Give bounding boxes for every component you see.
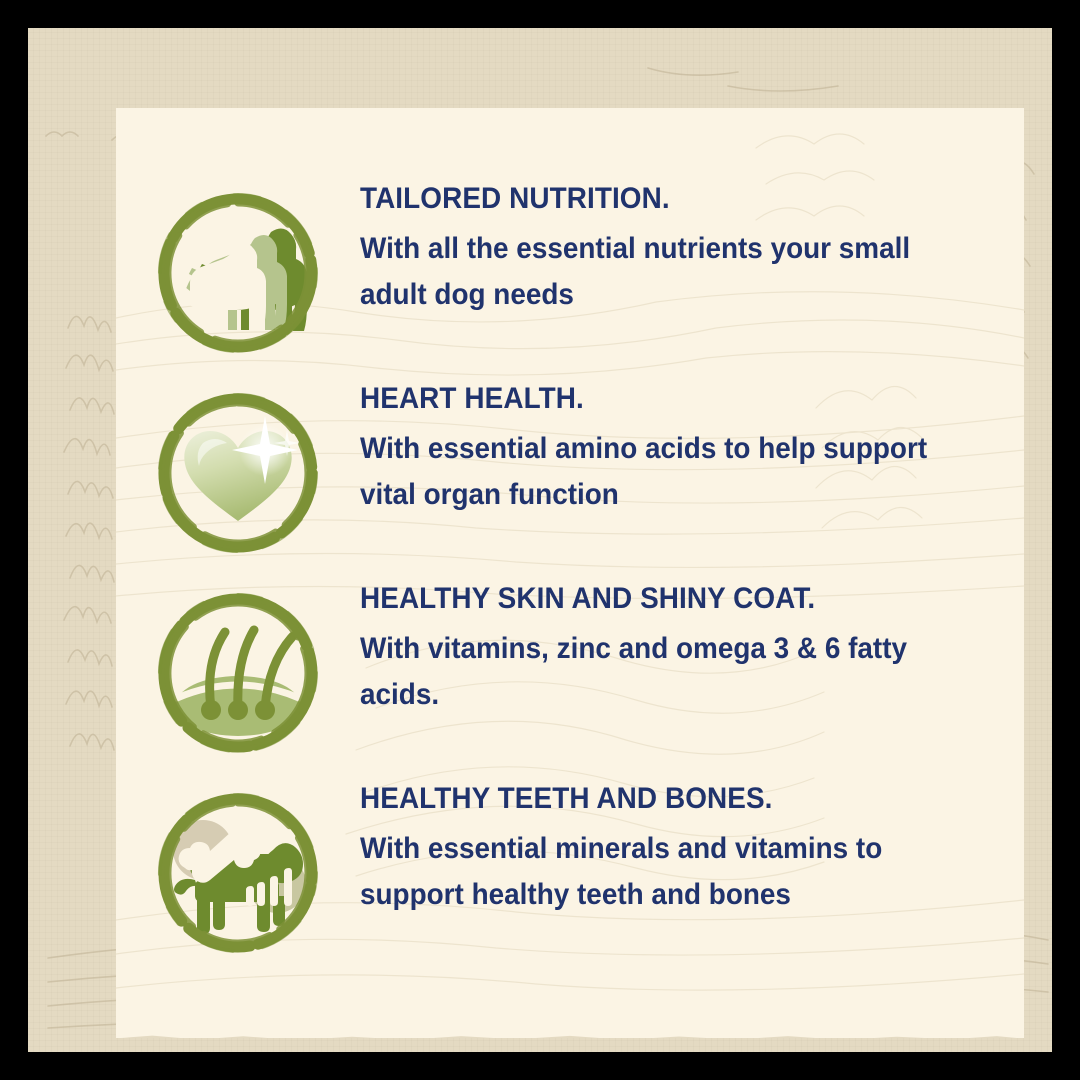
- poster-stage: TAILORED NUTRITION. With all the essenti…: [0, 0, 1080, 1080]
- dog-bone-teeth-icon: [145, 780, 331, 966]
- benefit-text-cell: HEALTHY SKIN AND SHINY COAT. With vitami…: [360, 574, 1024, 717]
- benefit-icon-cell: [116, 374, 360, 566]
- benefit-row: TAILORED NUTRITION. With all the essenti…: [116, 174, 1024, 370]
- benefit-row: HEALTHY SKIN AND SHINY COAT. With vitami…: [116, 574, 1024, 770]
- benefit-text-cell: HEART HEALTH. With essential amino acids…: [360, 374, 1024, 517]
- benefit-description: With essential minerals and vitamins to …: [360, 826, 974, 917]
- benefit-icon-cell: [116, 774, 360, 966]
- benefit-list: TAILORED NUTRITION. With all the essenti…: [116, 108, 1024, 1038]
- benefit-title: HEALTHY SKIN AND SHINY COAT.: [360, 584, 978, 614]
- benefit-title: TAILORED NUTRITION.: [360, 184, 978, 214]
- content-panel: TAILORED NUTRITION. With all the essenti…: [116, 108, 1024, 1038]
- benefit-row: HEALTHY TEETH AND BONES. With essential …: [116, 774, 1024, 970]
- benefit-text-cell: TAILORED NUTRITION. With all the essenti…: [360, 174, 1024, 317]
- benefit-title: HEART HEALTH.: [360, 384, 978, 414]
- paper-border: TAILORED NUTRITION. With all the essenti…: [28, 28, 1052, 1052]
- benefit-description: With essential amino acids to help suppo…: [360, 426, 974, 517]
- hair-follicles-icon: [145, 580, 331, 766]
- benefit-description: With all the essential nutrients your sm…: [360, 226, 974, 317]
- dog-silhouettes-icon: [145, 180, 331, 366]
- benefit-description: With vitamins, zinc and omega 3 & 6 fatt…: [360, 626, 974, 717]
- benefit-title: HEALTHY TEETH AND BONES.: [360, 784, 978, 814]
- benefit-text-cell: HEALTHY TEETH AND BONES. With essential …: [360, 774, 1024, 917]
- benefit-row: HEART HEALTH. With essential amino acids…: [116, 374, 1024, 570]
- heart-sparkle-icon: [145, 380, 331, 566]
- benefit-icon-cell: [116, 174, 360, 366]
- benefit-icon-cell: [116, 574, 360, 766]
